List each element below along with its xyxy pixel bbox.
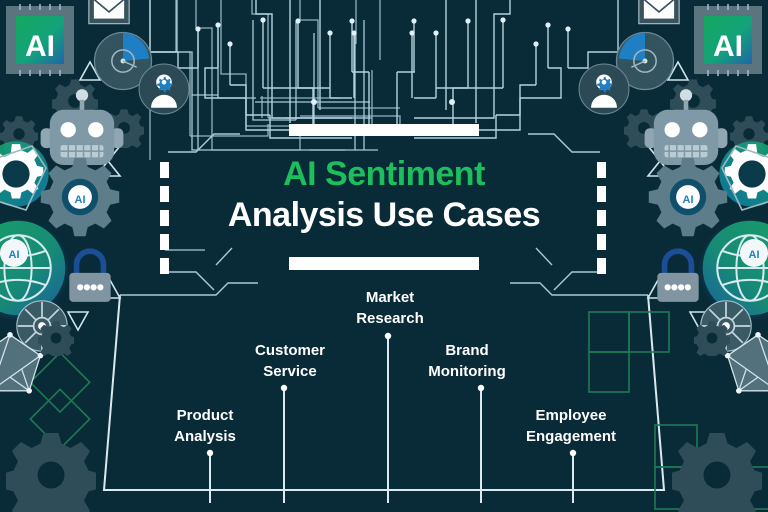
globe-ai-bubble-right: AI bbox=[740, 239, 768, 267]
ai-chip-label-left: AI bbox=[25, 30, 55, 63]
gear-icon bbox=[37, 321, 75, 359]
use-case-label-market-research[interactable]: Market Research bbox=[356, 287, 424, 329]
dash-mark bbox=[597, 210, 606, 226]
infographic-canvas: AI AI AI AI AI AI AI Sentiment Analysis … bbox=[0, 0, 768, 512]
dash-mark bbox=[597, 186, 606, 202]
dash-mark bbox=[597, 258, 606, 274]
dash-mark bbox=[160, 186, 169, 202]
dash-mark bbox=[597, 234, 606, 250]
gear-ai-badge-right: AI bbox=[683, 194, 694, 206]
gear-ai-badge-left: AI bbox=[75, 194, 86, 206]
svg-text:AI: AI bbox=[749, 249, 760, 261]
ai-chip-label-right: AI bbox=[713, 30, 743, 63]
dash-mark bbox=[160, 234, 169, 250]
dash-mark bbox=[160, 210, 169, 226]
use-case-dot bbox=[385, 333, 391, 339]
envelope-icon bbox=[89, 0, 129, 24]
use-case-label-customer-service[interactable]: Customer Service bbox=[255, 340, 325, 382]
use-case-label-employee-engagement[interactable]: Employee Engagement bbox=[526, 405, 616, 447]
title-bar-top bbox=[289, 124, 479, 136]
user-gear-icon bbox=[579, 64, 629, 114]
use-case-dot bbox=[207, 450, 213, 456]
globe-ai-bubble-left: AI bbox=[0, 239, 28, 267]
envelope-icon bbox=[639, 0, 679, 24]
use-case-label-product-analysis[interactable]: Product Analysis bbox=[174, 405, 236, 447]
title-bar-bottom bbox=[289, 257, 479, 270]
use-case-dot bbox=[478, 385, 484, 391]
use-case-label-brand-monitoring[interactable]: Brand Monitoring bbox=[428, 340, 505, 382]
use-case-dot bbox=[570, 450, 576, 456]
dash-mark bbox=[160, 162, 169, 178]
background-graphics: AI AI AI AI AI AI bbox=[0, 0, 768, 512]
gear-icon bbox=[693, 321, 731, 359]
svg-text:AI: AI bbox=[9, 249, 20, 261]
dash-mark bbox=[597, 162, 606, 178]
dash-mark bbox=[160, 258, 169, 274]
user-gear-icon bbox=[139, 64, 189, 114]
use-case-dot bbox=[281, 385, 287, 391]
